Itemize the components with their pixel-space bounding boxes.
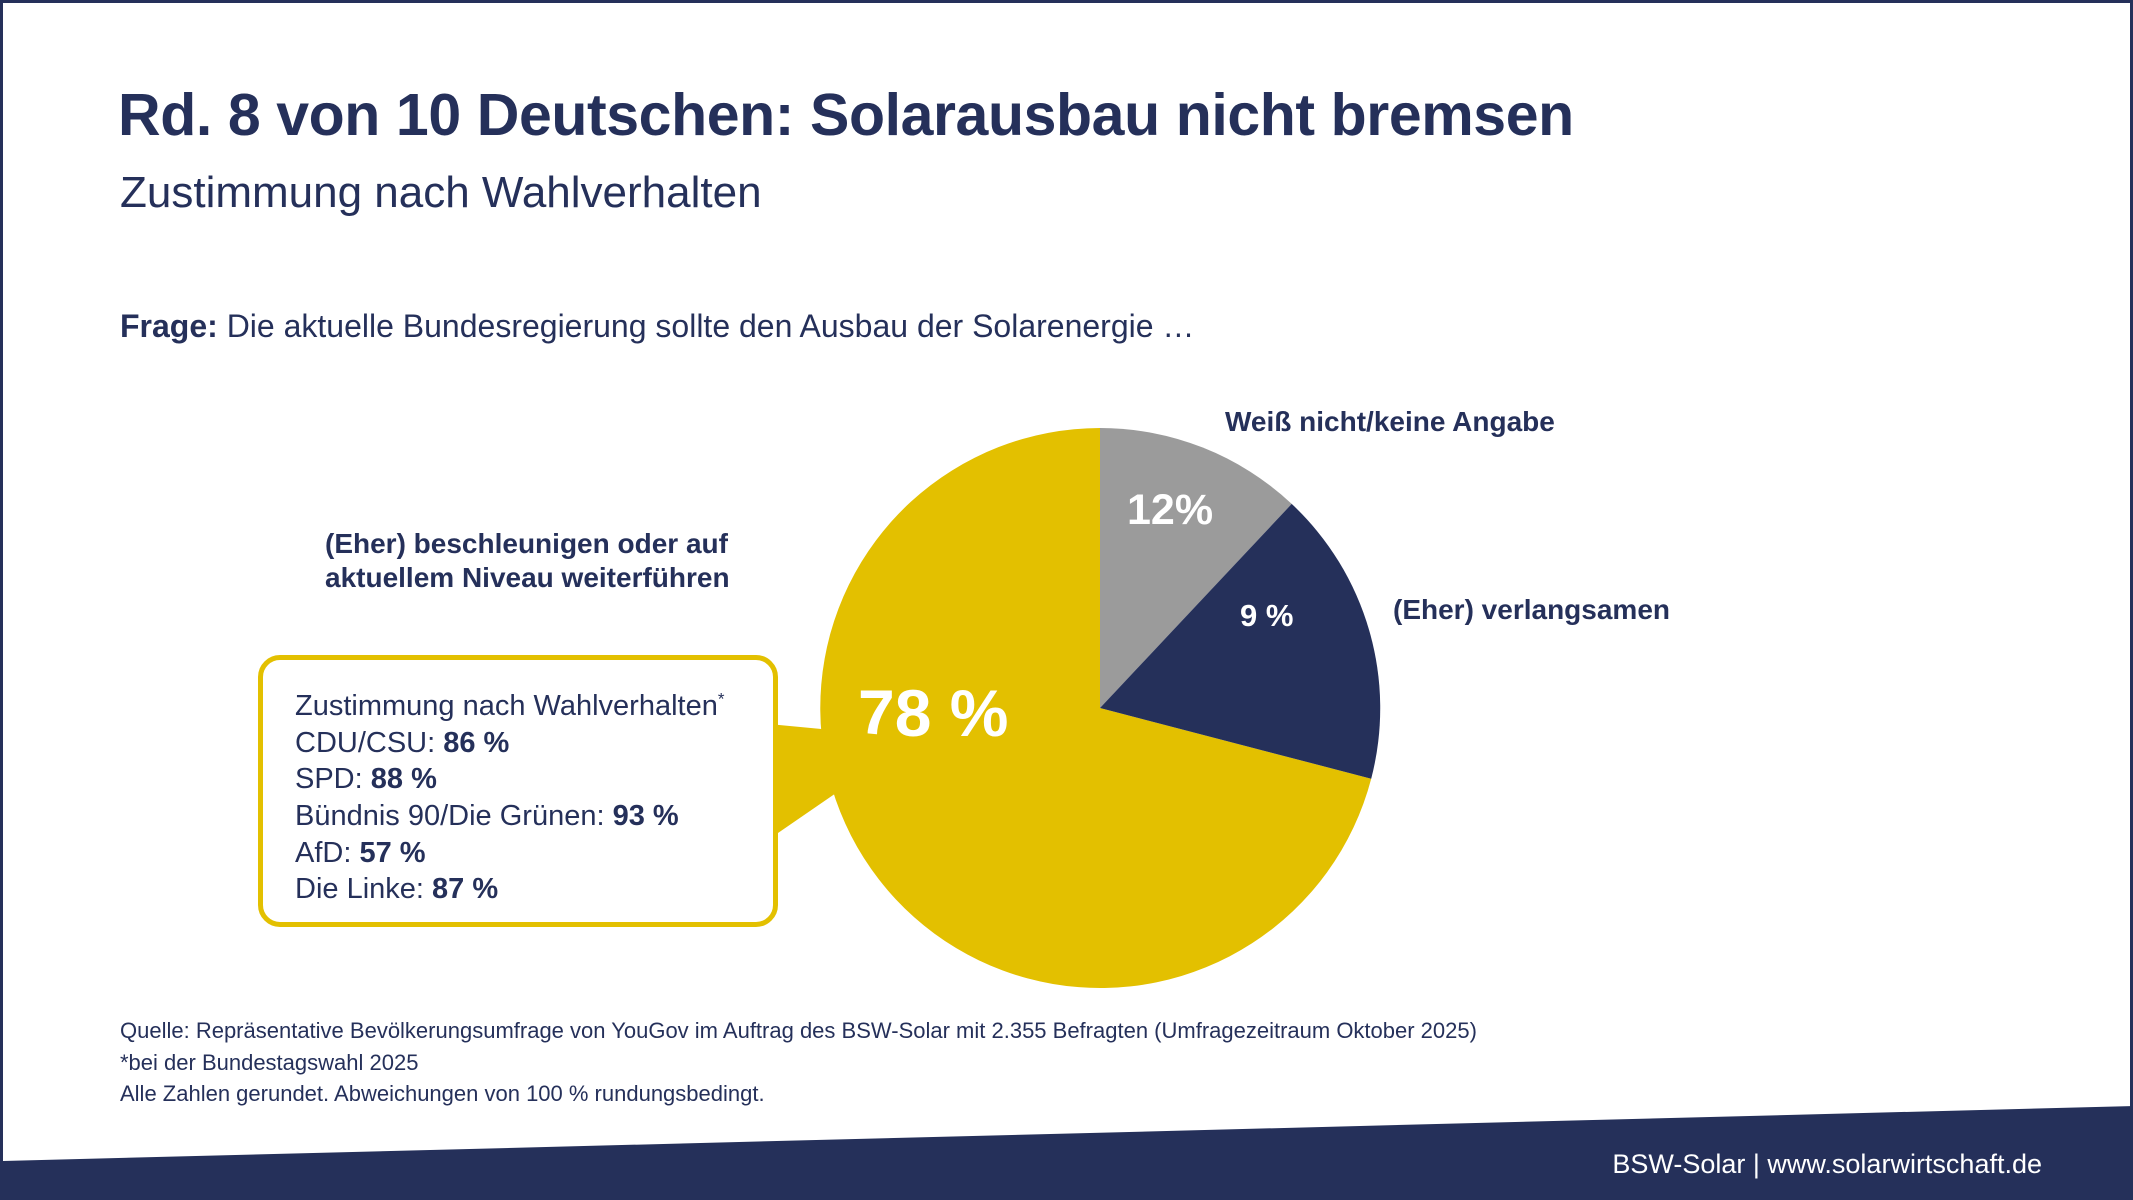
infographic-page: Rd. 8 von 10 Deutschen: Solarausbau nich… xyxy=(0,0,2133,1200)
footer-brand: BSW-Solar | www.solarwirtschaft.de xyxy=(1612,1149,2042,1180)
pie-slice-verlangsamen xyxy=(1100,504,1380,779)
pie-label-beschleunigen-line1: (Eher) beschleunigen oder auf xyxy=(325,527,730,561)
pie-label-verlangsamen: (Eher) verlangsamen xyxy=(1393,593,1670,627)
page-title: Rd. 8 von 10 Deutschen: Solarausbau nich… xyxy=(118,81,1574,149)
question-text: Die aktuelle Bundesregierung sollte den … xyxy=(218,308,1195,344)
callout-row: CDU/CSU: 86 % xyxy=(295,725,724,762)
callout-row-value: 88 % xyxy=(371,763,437,795)
callout-row: SPD: 88 % xyxy=(295,761,724,798)
pie-label-weiss-nicht: Weiß nicht/keine Angabe xyxy=(1225,405,1555,439)
callout-content: Zustimmung nach Wahlverhalten* CDU/CSU: … xyxy=(295,688,724,908)
callout-row: Die Linke: 87 % xyxy=(295,871,724,908)
source-line-1: Quelle: Repräsentative Bevölkerungsumfra… xyxy=(120,1015,1477,1047)
callout-row-value: 57 % xyxy=(359,837,425,869)
callout-row-value: 86 % xyxy=(443,727,509,759)
callout-heading-marker: * xyxy=(718,689,725,708)
callout-row-value: 87 % xyxy=(432,873,498,905)
callout-tail xyxy=(758,693,958,853)
callout-row: Bündnis 90/Die Grünen: 93 % xyxy=(295,798,724,835)
callout-row-party: Die Linke: xyxy=(295,873,432,905)
question-lead: Frage: xyxy=(120,308,218,344)
callout-row-value: 93 % xyxy=(613,800,679,832)
callout-row-party: AfD: xyxy=(295,837,359,869)
callout-row-party: SPD: xyxy=(295,763,371,795)
question-line: Frage: Die aktuelle Bundesregierung soll… xyxy=(120,308,1194,345)
pie-label-beschleunigen-line2: aktuellem Niveau weiterführen xyxy=(325,561,730,595)
source-line-2: *bei der Bundestagswahl 2025 xyxy=(120,1047,1477,1079)
pie-slice-weiss-nicht xyxy=(1100,428,1292,708)
callout-row-party: Bündnis 90/Die Grünen: xyxy=(295,800,613,832)
callout-heading: Zustimmung nach Wahlverhalten* xyxy=(295,688,724,725)
callout-heading-text: Zustimmung nach Wahlverhalten xyxy=(295,690,718,722)
footer-band xyxy=(3,1083,2133,1200)
page-subtitle: Zustimmung nach Wahlverhalten xyxy=(120,168,762,218)
pie-value-label-9: 9 % xyxy=(1240,598,1293,634)
callout-row: AfD: 57 % xyxy=(295,835,724,872)
pie-label-beschleunigen: (Eher) beschleunigen oder auf aktuellem … xyxy=(325,527,730,595)
pie-value-label-12: 12% xyxy=(1127,486,1213,535)
callout-box-wahlverhalten: Zustimmung nach Wahlverhalten* CDU/CSU: … xyxy=(258,655,778,927)
callout-row-party: CDU/CSU: xyxy=(295,727,443,759)
